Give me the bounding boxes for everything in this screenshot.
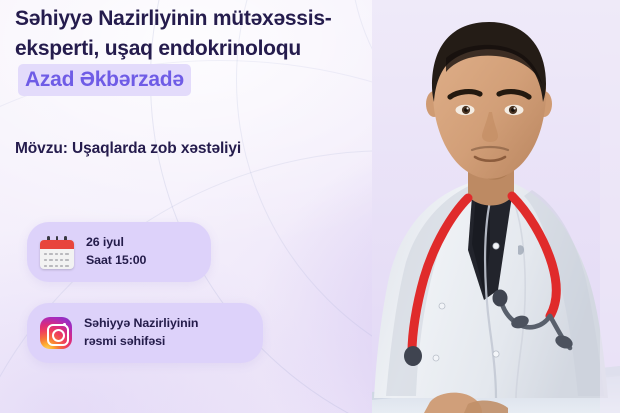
calendar-day-dot [49, 265, 52, 268]
calendar-day-dot [55, 265, 58, 268]
calendar-day-dot [44, 253, 47, 256]
instagram-card-text: Səhiyyə Nazirliyinin rəsmi səhifəsi [84, 315, 198, 350]
calendar-icon [40, 236, 74, 269]
calendar-day-dot [65, 259, 68, 262]
date-card: 26 iyul Saat 15:00 [27, 222, 211, 282]
instagram-line-2: rəsmi səhifəsi [84, 333, 198, 351]
headline-line-3: endokrinoloqu [158, 37, 301, 60]
topic-label: Mövzu: Uşaqlarda zob xəstəliyi [15, 140, 241, 158]
doctor-portrait [372, 0, 620, 413]
instagram-card[interactable]: Səhiyyə Nazirliyinin rəsmi səhifəsi [27, 303, 263, 363]
date-line: 26 iyul [86, 234, 146, 252]
calendar-day-dot [49, 259, 52, 262]
page-title: Səhiyyə Nazirliyinin mütəxəssis-eksperti… [15, 4, 360, 96]
calendar-day-dot [44, 259, 47, 262]
calendar-day-dot [65, 265, 68, 268]
calendar-day-dot [49, 253, 52, 256]
time-line: Saat 15:00 [86, 252, 146, 270]
webinar-poster: Səhiyyə Nazirliyi Səhiyyə Nazirliyinin m… [0, 0, 620, 413]
calendar-day-dot [44, 265, 47, 268]
instagram-line-1: Səhiyyə Nazirliyinin [84, 315, 198, 333]
speaker-name-chip: Azad Əkbərzadə [18, 64, 191, 97]
calendar-day-dot [60, 259, 63, 262]
date-card-text: 26 iyul Saat 15:00 [86, 234, 146, 269]
instagram-icon[interactable] [40, 317, 72, 349]
headline-line-1: Səhiyyə Nazirliyinin [15, 7, 207, 30]
calendar-day-dot [55, 253, 58, 256]
calendar-day-dot [60, 253, 63, 256]
calendar-day-dot [60, 265, 63, 268]
calendar-day-dot [65, 253, 68, 256]
doctor-portrait-image [372, 0, 620, 413]
calendar-day-dot [55, 259, 58, 262]
